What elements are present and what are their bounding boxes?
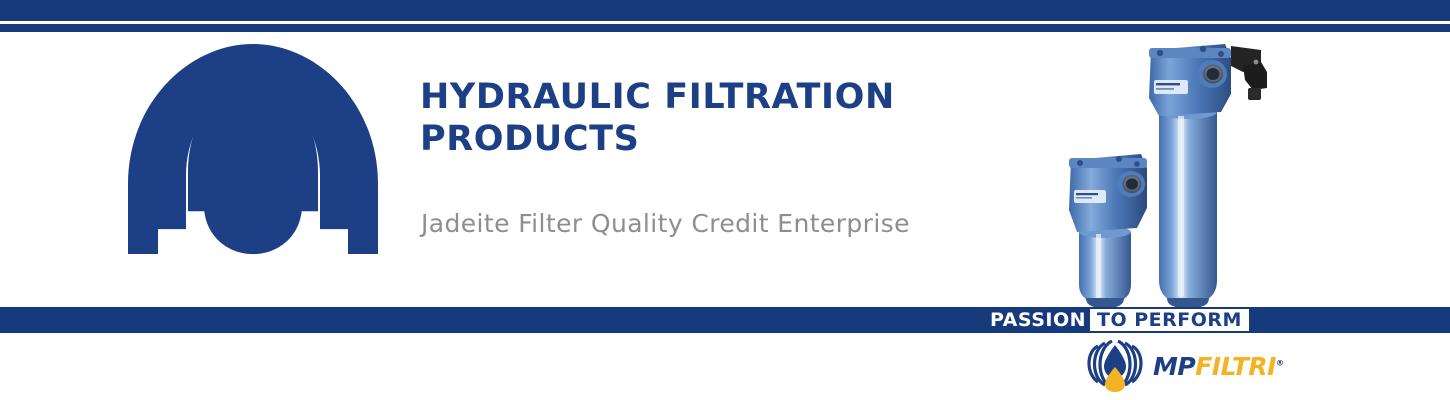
mp-filtri-wordmark: MPFILTRI®	[1153, 354, 1283, 379]
top-rule-thin	[0, 24, 1450, 32]
mp-filtri-logo: MPFILTRI®	[1078, 340, 1264, 392]
mp-filtri-droplet-icon	[1078, 340, 1152, 392]
brand-filtri: FILTRI	[1195, 352, 1276, 381]
water-droplet-rings-icon	[118, 42, 388, 304]
tagline: PASSION TO PERFORM	[990, 307, 1249, 333]
product-photo	[1055, 32, 1305, 308]
subtitle: Jadeite Filter Quality Credit Enterprise	[421, 209, 910, 238]
tagline-passion: PASSION	[990, 307, 1090, 333]
headline-line-1: HYDRAULIC FILTRATION	[420, 76, 1040, 118]
brand-mp: MP	[1153, 352, 1195, 381]
registered-mark: ®	[1276, 358, 1284, 367]
hydraulic-filter-housings-icon	[1055, 32, 1305, 308]
hydraulic-filtration-banner: HYDRAULIC FILTRATION PRODUCTS Jadeite Fi…	[0, 0, 1450, 400]
tagline-to-perform: TO PERFORM	[1090, 309, 1249, 331]
headline-block: HYDRAULIC FILTRATION PRODUCTS	[420, 76, 1040, 160]
headline-line-2: PRODUCTS	[420, 118, 1040, 160]
top-rule-thick	[0, 0, 1450, 21]
company-logo	[118, 42, 388, 304]
